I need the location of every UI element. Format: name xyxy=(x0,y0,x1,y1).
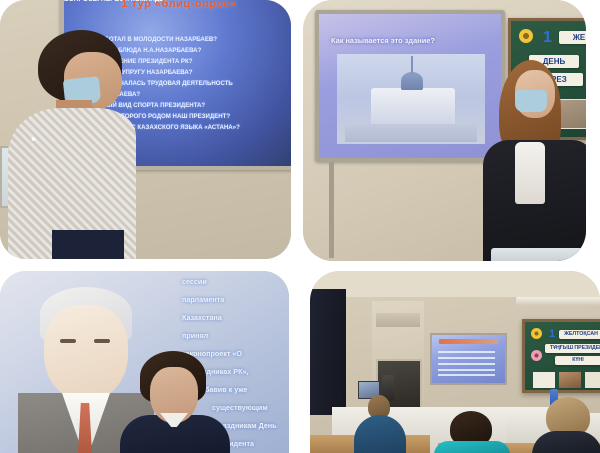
classroom-wide-scene: 1 ЖЕЛТОҚСАН ТҰҢҒЫШ ПРЕЗИДЕНТ КҮНІ xyxy=(310,271,600,453)
whiteboard-screen: Как называется это здание? xyxy=(319,14,501,158)
face-mask-icon xyxy=(515,90,547,112)
desk xyxy=(491,248,583,261)
chalkboard: 1 ЖЕЛТОҚСАН ТҰҢҒЫШ ПРЕЗИДЕНТ КҮНІ xyxy=(522,319,600,393)
chalkboard-photo xyxy=(585,372,600,388)
photo-collage: 1 тур «блиц-опрос» ВОПРОСЫ ПЕРВОЙ КОМАНД… xyxy=(0,0,600,453)
collage-panel-bottom-right[interactable]: 1 ЖЕЛТОҚСАН ТҰҢҒЫШ ПРЕЗИДЕНТ КҮНІ xyxy=(310,271,600,453)
collage-panel-top-left[interactable]: 1 тур «блиц-опрос» ВОПРОСЫ ПЕРВОЙ КОМАНД… xyxy=(0,0,291,259)
projection-line: существующим xyxy=(212,403,268,412)
slide-question: Как называется это здание? xyxy=(331,36,435,45)
ceiling-lamp xyxy=(516,297,600,306)
portrait-eye-right xyxy=(94,339,110,343)
flower-decoration-icon xyxy=(531,328,542,339)
chalkboard-month-word: ЖЕ xyxy=(559,31,586,44)
chalkboard-word: ТҰҢҒЫШ ПРЕЗИДЕНТ xyxy=(545,344,600,353)
window-curtain xyxy=(310,289,346,415)
palace-spire xyxy=(411,56,413,74)
flower-decoration-icon xyxy=(519,29,533,43)
ceiling xyxy=(310,271,600,297)
projection-line: Казахстана xyxy=(182,313,222,322)
slide-title: 1 тур «блиц-опрос» xyxy=(64,0,291,10)
projection-line: сессии xyxy=(182,277,207,286)
chalkboard-word: КҮНІ xyxy=(555,356,600,365)
projection-scene: сессии парламента Казахстана принял зако… xyxy=(0,271,289,453)
palace-dome xyxy=(401,72,423,90)
chalkboard-note xyxy=(533,372,555,388)
portrait-eye-left xyxy=(60,339,76,343)
board-stand-left xyxy=(329,162,334,258)
flower-decoration-icon xyxy=(531,350,542,361)
collage-panel-top-right[interactable]: 1 ЖЕ ДЕНЬ ПРЕЗ Как называется это здание… xyxy=(303,0,586,261)
slide-heading-bar xyxy=(439,339,497,344)
palace-building xyxy=(371,88,455,124)
chalkboard-number: 1 xyxy=(549,328,555,340)
classroom-scene-2: 1 ЖЕ ДЕНЬ ПРЕЗ Как называется это здание… xyxy=(303,0,586,261)
ventilation-grille xyxy=(376,313,420,327)
pupil-body xyxy=(434,441,510,453)
chalkboard-photo xyxy=(559,372,581,388)
pupil-body xyxy=(532,431,600,453)
chalkboard-number: 1 xyxy=(543,29,552,47)
collage-panel-bottom-left[interactable]: сессии парламента Казахстана принял зако… xyxy=(0,271,289,453)
projection-line: парламента xyxy=(182,295,224,304)
interactive-whiteboard[interactable]: Как называется это здание? xyxy=(315,10,505,162)
projection-line: принял xyxy=(182,331,208,340)
classroom-scene-1: 1 тур «блиц-опрос» ВОПРОСЫ ПЕРВОЙ КОМАНД… xyxy=(0,0,291,259)
projection-screen[interactable] xyxy=(430,333,507,385)
student-blouse xyxy=(515,142,545,204)
chalkboard-word: ЖЕЛТОҚСАН xyxy=(559,330,600,339)
palace-plaza xyxy=(345,124,477,142)
portrait-face xyxy=(44,305,128,401)
slide-building-photo xyxy=(337,54,485,144)
projection-screen-surface xyxy=(432,335,505,383)
student-trousers xyxy=(52,230,124,259)
